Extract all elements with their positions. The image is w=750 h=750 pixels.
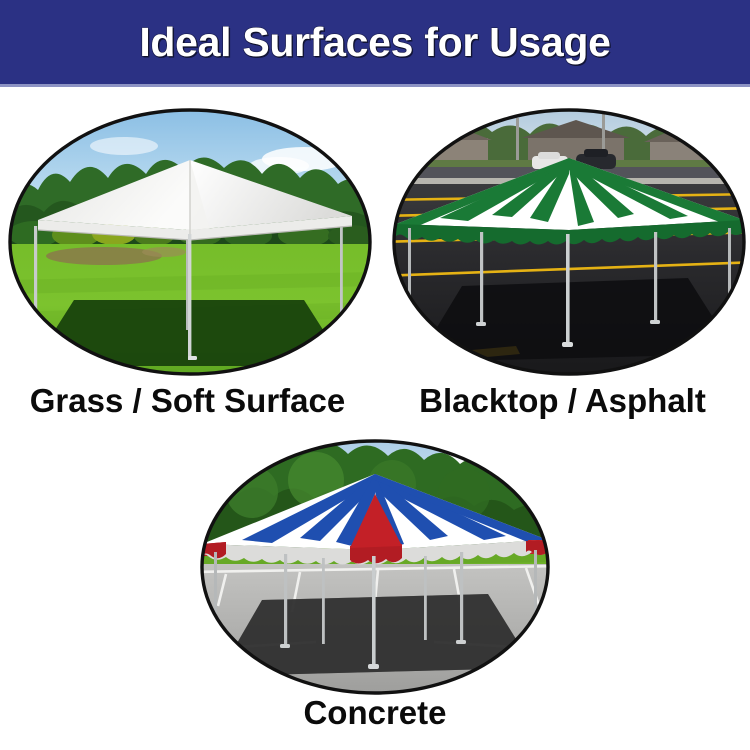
concrete-scene — [196, 436, 554, 698]
blacktop-photo-oval — [388, 104, 750, 380]
panel-concrete — [196, 436, 554, 698]
panel-grass — [4, 104, 376, 380]
blacktop-scene — [388, 104, 750, 380]
grass-scene — [4, 104, 376, 380]
caption-blacktop: Blacktop / Asphalt — [375, 382, 750, 420]
page-title: Ideal Surfaces for Usage — [0, 0, 750, 84]
concrete-photo-oval — [196, 436, 554, 698]
caption-concrete: Concrete — [190, 694, 560, 732]
infographic-page: Ideal Surfaces for Usage — [0, 0, 750, 750]
grass-photo-oval — [4, 104, 376, 380]
caption-grass: Grass / Soft Surface — [0, 382, 375, 420]
panel-blacktop — [388, 104, 750, 380]
header-underline — [0, 84, 750, 87]
